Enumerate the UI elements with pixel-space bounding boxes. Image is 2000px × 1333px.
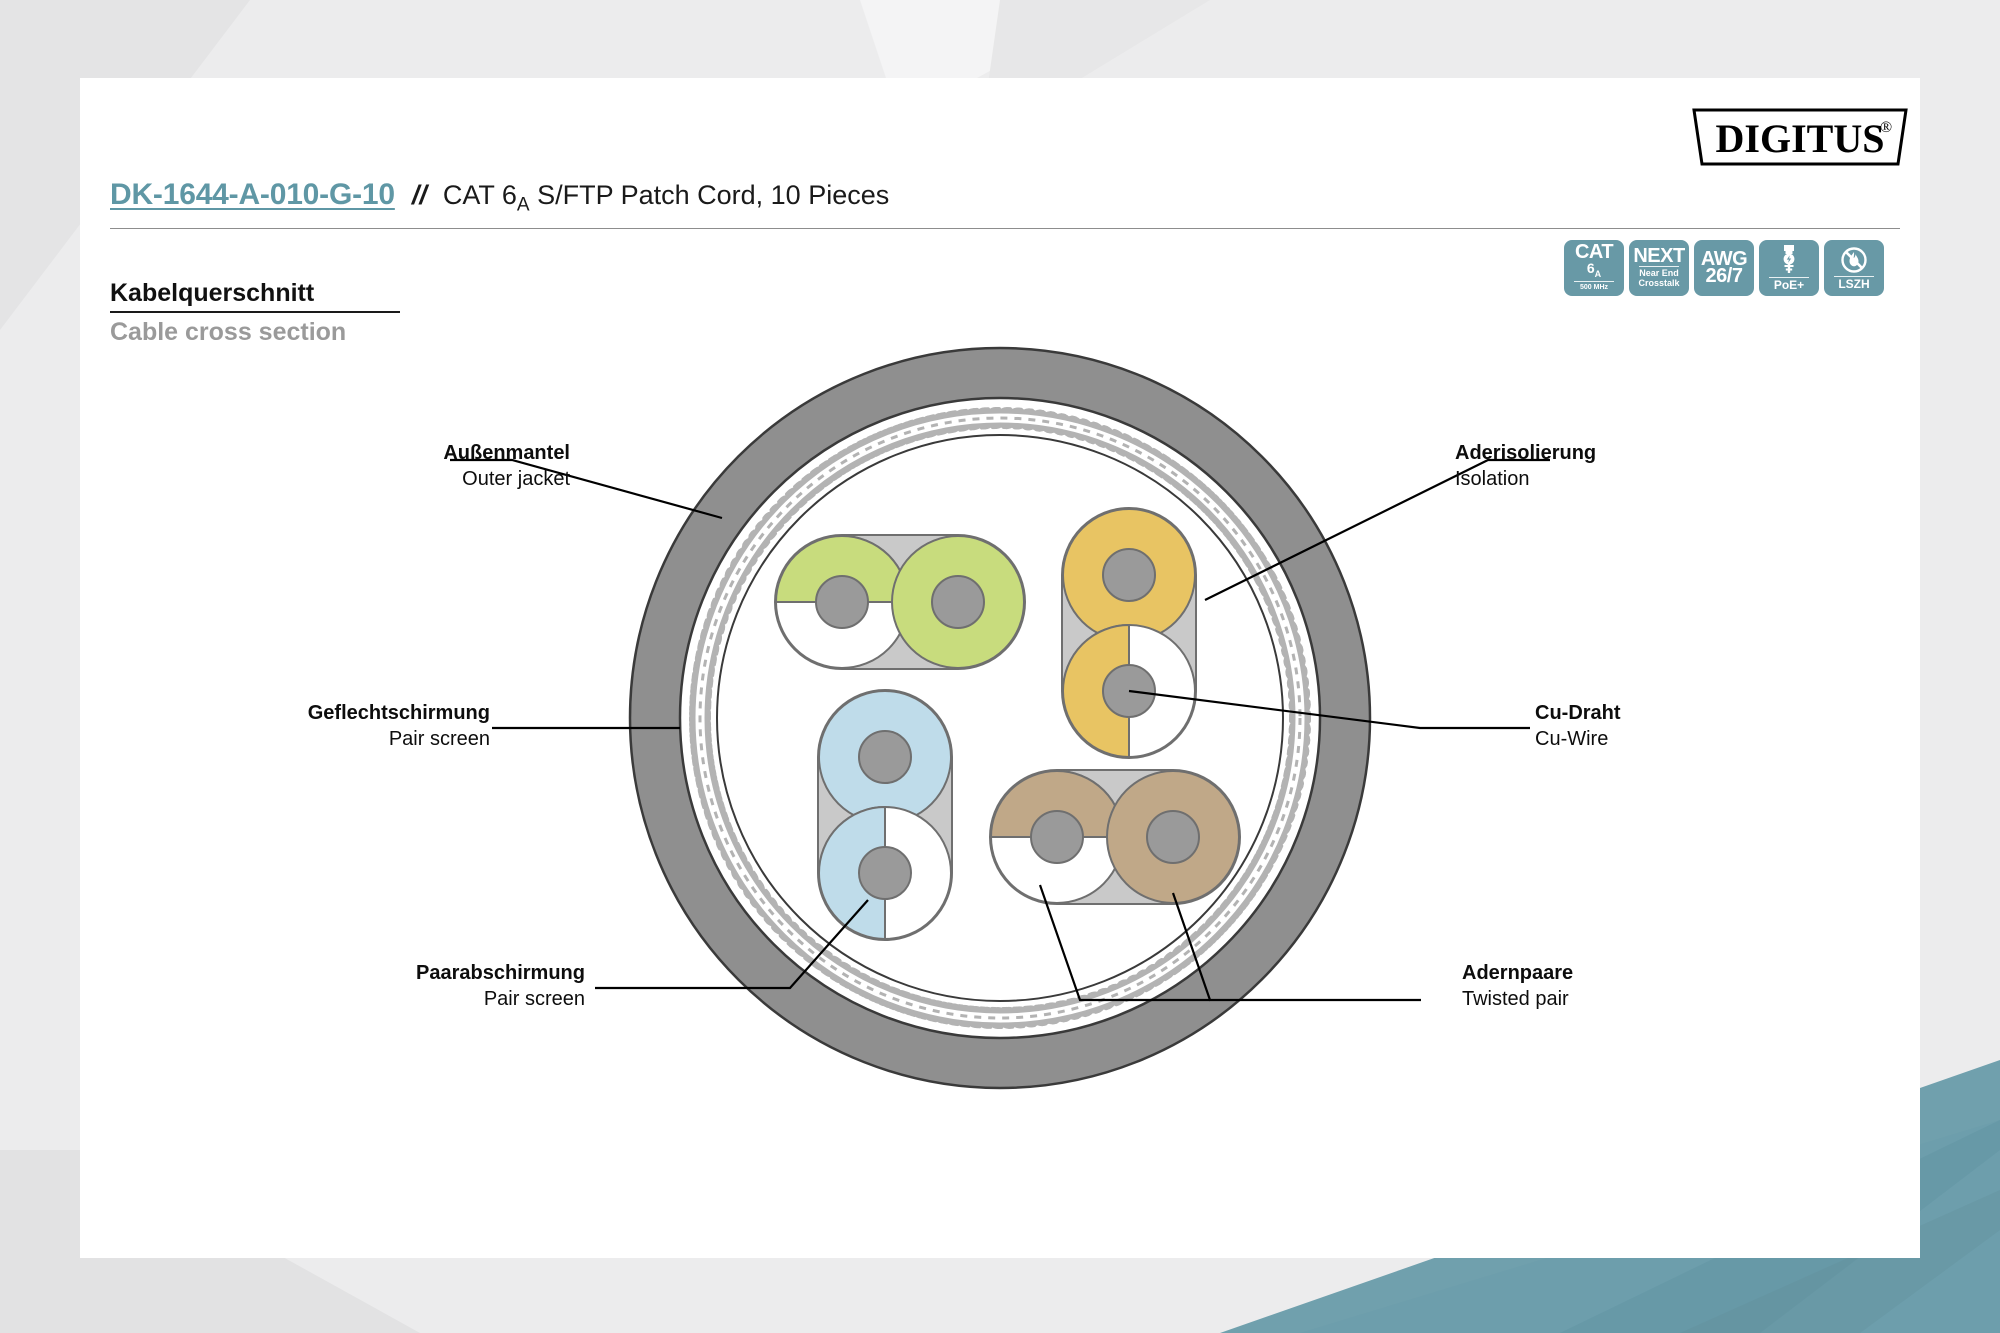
product-title-row: DK-1644-A-010-G-10 // CAT 6A S/FTP Patch…: [110, 178, 1890, 222]
title-separator: //: [412, 180, 427, 211]
product-description: CAT 6A S/FTP Patch Cord, 10 Pieces: [443, 180, 889, 216]
awg-badge-line2: 26/7: [1706, 268, 1743, 285]
next-badge-rule: [1639, 266, 1679, 267]
callout-pair-screen-en: Pair screen: [200, 986, 585, 1012]
cat-badge-rule: [1574, 281, 1614, 282]
poe-badge: PoE+: [1759, 240, 1819, 296]
callout-isolation: Aderisolierung Isolation: [1455, 440, 1855, 492]
next-badge-line3: Crosstalk: [1638, 278, 1679, 288]
product-sku: DK-1644-A-010-G-10: [110, 178, 395, 212]
next-badge-line2: Near End: [1639, 268, 1679, 278]
rj45-plug-lightning-icon: [1776, 244, 1802, 276]
callout-braid-shield-en: Pair screen: [90, 726, 490, 752]
callout-isolation-de: Aderisolierung: [1455, 440, 1855, 466]
digitus-logo: DIGITUS ®: [1692, 106, 1908, 168]
callout-pair-screen-de: Paarabschirmung: [200, 960, 585, 986]
callout-cu-wire-en: Cu-Wire: [1535, 726, 1915, 752]
cat-badge-line1: CAT: [1575, 244, 1613, 261]
no-flame-icon: [1839, 245, 1869, 275]
spec-badges: CAT 6A 500 MHz NEXT Near End Crosstalk A…: [1564, 240, 1884, 296]
cat-badge-line2: 6A: [1587, 261, 1601, 281]
callout-twisted-pair: Adernpaare Twisted pair: [1462, 960, 1842, 1012]
callout-pair-screen: Paarabschirmung Pair screen: [200, 960, 585, 1012]
lszh-badge-rule: [1834, 276, 1874, 277]
poe-badge-rule: [1769, 277, 1809, 278]
callout-cu-wire: Cu-Draht Cu-Wire: [1535, 700, 1915, 752]
callout-outer-jacket-en: Outer jacket: [190, 466, 570, 492]
registered-mark: ®: [1880, 119, 1892, 136]
callout-twisted-pair-de: Adernpaare: [1462, 960, 1842, 986]
section-heading: Kabelquerschnitt Cable cross section: [110, 278, 400, 347]
cat-badge-line3: 500 MHz: [1580, 283, 1608, 292]
next-badge-line1: NEXT: [1633, 248, 1684, 265]
poe-badge-label: PoE+: [1774, 279, 1804, 292]
description-subscript: A: [517, 194, 530, 215]
callout-braid-shield-de: Geflechtschirmung: [90, 700, 490, 726]
description-post: S/FTP Patch Cord, 10 Pieces: [530, 180, 890, 210]
awg-badge: AWG 26/7: [1694, 240, 1754, 296]
logo-text: DIGITUS: [1716, 116, 1885, 161]
section-title-de: Kabelquerschnitt: [110, 278, 400, 308]
cat-badge: CAT 6A 500 MHz: [1564, 240, 1624, 296]
cat-badge-subscript: A: [1595, 268, 1602, 278]
callout-isolation-en: Isolation: [1455, 466, 1855, 492]
section-title-en: Cable cross section: [110, 317, 400, 347]
next-badge: NEXT Near End Crosstalk: [1629, 240, 1689, 296]
callout-cu-wire-de: Cu-Draht: [1535, 700, 1915, 726]
section-heading-rule: [110, 311, 400, 313]
callout-outer-jacket: Außenmantel Outer jacket: [190, 440, 570, 492]
callout-outer-jacket-de: Außenmantel: [190, 440, 570, 466]
lszh-badge-label: LSZH: [1838, 278, 1869, 291]
lszh-badge: LSZH: [1824, 240, 1884, 296]
callout-twisted-pair-en: Twisted pair: [1462, 986, 1842, 1012]
callout-braid-shield: Geflechtschirmung Pair screen: [90, 700, 490, 752]
title-divider: [110, 228, 1900, 229]
description-pre: CAT 6: [443, 180, 517, 210]
